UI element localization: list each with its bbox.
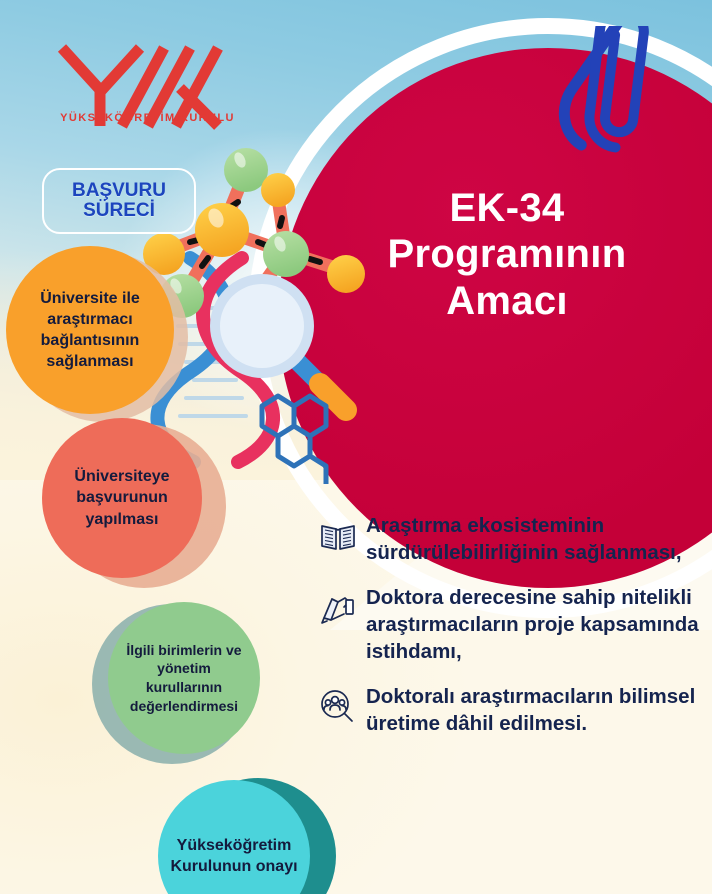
objective-item-1: Araştırma ekosisteminin sürdürülebilirli… <box>318 512 703 566</box>
page-title: EK-34 Programının Amacı <box>352 185 662 324</box>
objective-text-3: Doktoralı araştırmacıların bilimsel üret… <box>358 683 703 737</box>
yok-logo-subtitle: YÜKSEKÖĞRETİM KURULU <box>50 112 245 124</box>
objective-item-3: Doktoralı araştırmacıların bilimsel üret… <box>318 683 703 737</box>
objective-text-2: Doktora derecesine sahip nitelikli araşt… <box>358 584 703 665</box>
step-circle-3: İlgili birimlerin ve yönetim kurullarını… <box>108 602 260 754</box>
title-line-3: Amacı <box>352 278 662 324</box>
title-line-1: EK-34 <box>352 185 662 231</box>
badge-line-1: BAŞVURU <box>72 180 166 201</box>
basvuru-sureci-badge: BAŞVURU SÜRECİ <box>42 168 196 234</box>
objectives-list: Araştırma ekosisteminin sürdürülebilirli… <box>318 512 703 755</box>
step-circle-2: Üniversiteye başvurunun yapılması <box>42 418 202 578</box>
objective-item-2: Doktora derecesine sahip nitelikli araşt… <box>318 584 703 665</box>
step-circle-1: Üniversite ile araştırmacı bağlantısının… <box>6 246 174 414</box>
badge-line-2: SÜRECİ <box>83 200 155 221</box>
badge-label: BAŞVURU SÜRECİ <box>72 181 166 221</box>
paperclip-icon <box>548 26 708 166</box>
objective-text-1: Araştırma ekosisteminin sürdürülebilirli… <box>358 512 703 566</box>
writing-hand-icon <box>318 588 358 628</box>
people-magnifier-icon <box>318 687 358 727</box>
title-line-2: Programının <box>352 231 662 277</box>
infographic-poster: YÜKSEKÖĞRETİM KURULU <box>0 0 712 894</box>
open-book-icon <box>318 516 358 556</box>
